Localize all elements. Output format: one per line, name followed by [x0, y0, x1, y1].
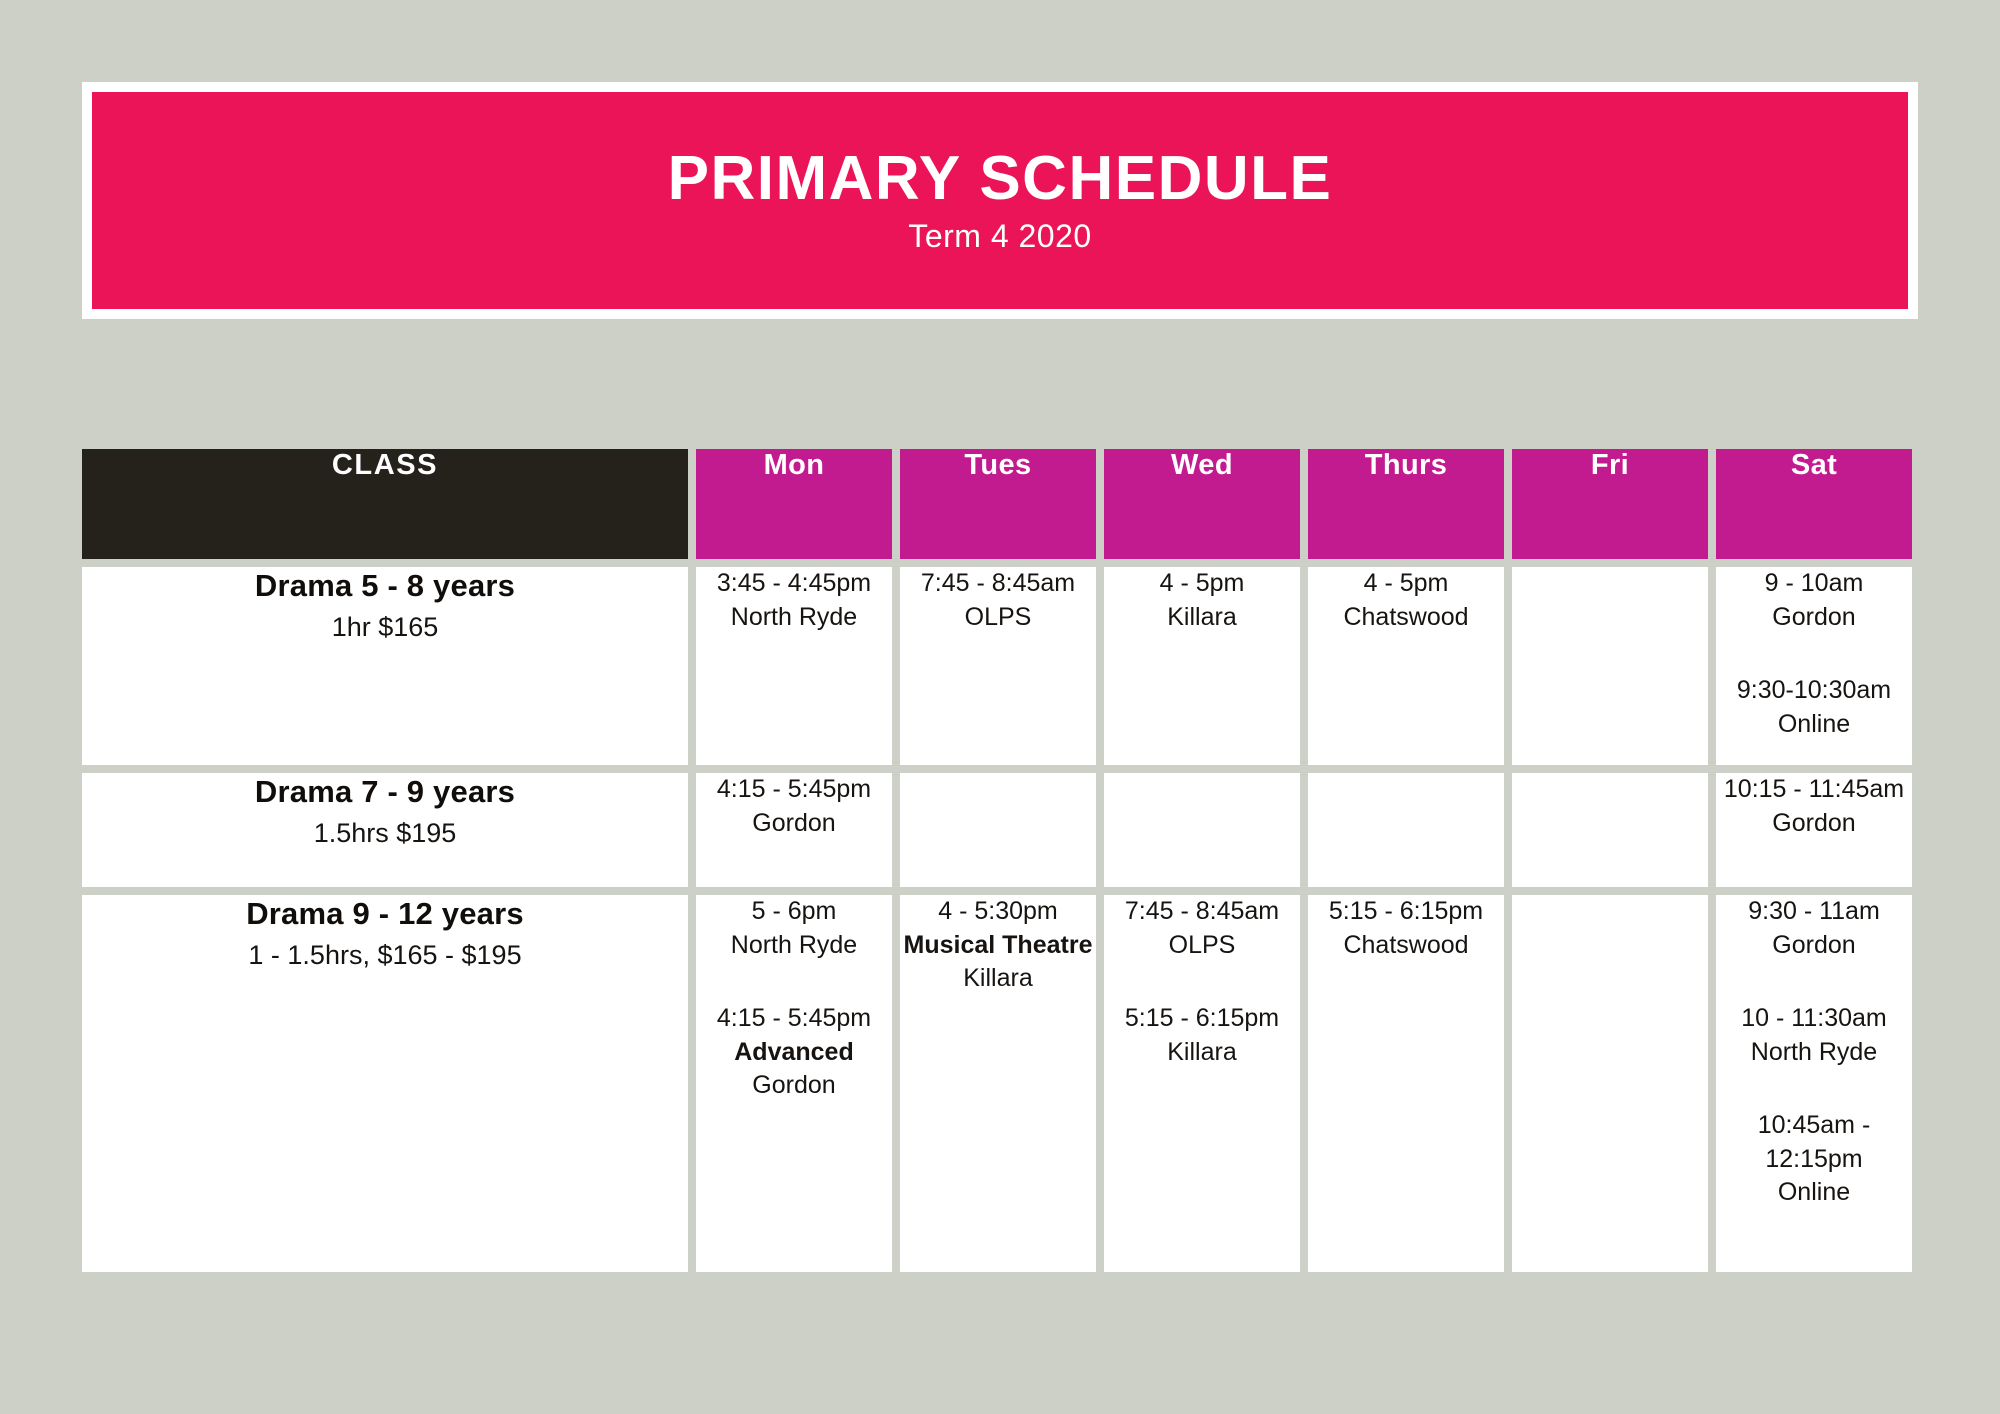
schedule-entry: 10 - 11:30amNorth Ryde	[1716, 1002, 1912, 1069]
column-header-wed: Wed	[1104, 449, 1300, 559]
entry-time: 4 - 5:30pm	[900, 895, 1096, 929]
schedule-table: CLASS Mon Tues Wed Thurs Fri Sat Drama 5…	[74, 441, 1920, 1280]
entry-time: 7:45 - 8:45am	[900, 567, 1096, 601]
table-row: Drama 7 - 9 years1.5hrs $1954:15 - 5:45p…	[82, 773, 1912, 887]
entry-time: 5 - 6pm	[696, 895, 892, 929]
entry-location: North Ryde	[1716, 1036, 1912, 1070]
table-header-row: CLASS Mon Tues Wed Thurs Fri Sat	[82, 449, 1912, 559]
entry-time: 7:45 - 8:45am	[1104, 895, 1300, 929]
class-cell: Drama 7 - 9 years1.5hrs $195	[82, 773, 688, 887]
entry-location: Killara	[1104, 601, 1300, 635]
entry-note: Musical Theatre	[900, 929, 1096, 963]
entry-location: OLPS	[900, 601, 1096, 635]
schedule-cell-mon: 4:15 - 5:45pmGordon	[696, 773, 892, 887]
entry-time: 5:15 - 6:15pm	[1308, 895, 1504, 929]
entry-location: Gordon	[696, 807, 892, 841]
schedule-entry: 7:45 - 8:45amOLPS	[1104, 895, 1300, 962]
entry-time: 4:15 - 5:45pm	[696, 773, 892, 807]
entry-time: 10:45am - 12:15pm	[1716, 1109, 1912, 1176]
schedule-table-head: CLASS Mon Tues Wed Thurs Fri Sat	[82, 449, 1912, 559]
column-header-class: CLASS	[82, 449, 688, 559]
class-name: Drama 5 - 8 years	[82, 567, 688, 604]
schedule-cell-sat: 9:30 - 11amGordon10 - 11:30amNorth Ryde1…	[1716, 895, 1912, 1272]
entry-time: 10 - 11:30am	[1716, 1002, 1912, 1036]
schedule-cell-mon: 5 - 6pmNorth Ryde4:15 - 5:45pmAdvancedGo…	[696, 895, 892, 1272]
schedule-table-body: Drama 5 - 8 years1hr $1653:45 - 4:45pmNo…	[82, 567, 1912, 1272]
column-header-mon: Mon	[696, 449, 892, 559]
class-cell: Drama 9 - 12 years1 - 1.5hrs, $165 - $19…	[82, 895, 688, 1272]
table-row: Drama 9 - 12 years1 - 1.5hrs, $165 - $19…	[82, 895, 1912, 1272]
entry-location: Chatswood	[1308, 601, 1504, 635]
schedule-entry: 4 - 5pmKillara	[1104, 567, 1300, 634]
entry-time: 3:45 - 4:45pm	[696, 567, 892, 601]
schedule-entry: 4 - 5pmChatswood	[1308, 567, 1504, 634]
schedule-entry: 4 - 5:30pmMusical TheatreKillara	[900, 895, 1096, 996]
schedule-entry: 3:45 - 4:45pmNorth Ryde	[696, 567, 892, 634]
column-header-fri: Fri	[1512, 449, 1708, 559]
entry-time: 5:15 - 6:15pm	[1104, 1002, 1300, 1036]
schedule-entry: 5:15 - 6:15pmKillara	[1104, 1002, 1300, 1069]
class-cell: Drama 5 - 8 years1hr $165	[82, 567, 688, 765]
schedule-cell-thurs	[1308, 773, 1504, 887]
schedule-cell-fri	[1512, 895, 1708, 1272]
schedule-entry: 10:15 - 11:45amGordon	[1716, 773, 1912, 840]
schedule-entry: 10:45am - 12:15pmOnline	[1716, 1109, 1912, 1210]
entry-time: 9:30 - 11am	[1716, 895, 1912, 929]
schedule-cell-mon: 3:45 - 4:45pmNorth Ryde	[696, 567, 892, 765]
schedule-cell-tues: 7:45 - 8:45amOLPS	[900, 567, 1096, 765]
column-header-tues: Tues	[900, 449, 1096, 559]
class-meta: 1.5hrs $195	[82, 816, 688, 851]
page-subtitle: Term 4 2020	[908, 218, 1091, 255]
entry-time: 9 - 10am	[1716, 567, 1912, 601]
class-name: Drama 7 - 9 years	[82, 773, 688, 810]
page-banner: PRIMARY SCHEDULE Term 4 2020	[82, 82, 1918, 319]
column-header-thurs: Thurs	[1308, 449, 1504, 559]
class-meta: 1 - 1.5hrs, $165 - $195	[82, 938, 688, 973]
entry-location: Killara	[900, 962, 1096, 996]
schedule-entry: 4:15 - 5:45pmGordon	[696, 773, 892, 840]
entry-time: 4 - 5pm	[1104, 567, 1300, 601]
schedule-cell-wed	[1104, 773, 1300, 887]
schedule-cell-thurs: 4 - 5pmChatswood	[1308, 567, 1504, 765]
entry-location: Gordon	[696, 1069, 892, 1103]
schedule-cell-wed: 7:45 - 8:45amOLPS5:15 - 6:15pmKillara	[1104, 895, 1300, 1272]
entry-note: Advanced	[696, 1036, 892, 1070]
schedule-entry: 4:15 - 5:45pmAdvancedGordon	[696, 1002, 892, 1103]
entry-time: 9:30-10:30am	[1716, 674, 1912, 708]
entry-time: 4 - 5pm	[1308, 567, 1504, 601]
class-meta: 1hr $165	[82, 610, 688, 645]
entry-location: Gordon	[1716, 601, 1912, 635]
schedule-cell-tues: 4 - 5:30pmMusical TheatreKillara	[900, 895, 1096, 1272]
schedule-entry: 5 - 6pmNorth Ryde	[696, 895, 892, 962]
schedule-page: PRIMARY SCHEDULE Term 4 2020 CLASS Mon T…	[0, 0, 2000, 1414]
entry-location: North Ryde	[696, 929, 892, 963]
entry-location: Online	[1716, 1176, 1912, 1210]
schedule-cell-sat: 9 - 10amGordon9:30-10:30amOnline	[1716, 567, 1912, 765]
schedule-entry: 5:15 - 6:15pmChatswood	[1308, 895, 1504, 962]
schedule-cell-wed: 4 - 5pmKillara	[1104, 567, 1300, 765]
entry-location: Chatswood	[1308, 929, 1504, 963]
page-title: PRIMARY SCHEDULE	[668, 146, 1333, 211]
entry-location: North Ryde	[696, 601, 892, 635]
schedule-cell-tues	[900, 773, 1096, 887]
entry-location: Gordon	[1716, 929, 1912, 963]
schedule-entry: 7:45 - 8:45amOLPS	[900, 567, 1096, 634]
entry-location: OLPS	[1104, 929, 1300, 963]
schedule-cell-thurs: 5:15 - 6:15pmChatswood	[1308, 895, 1504, 1272]
schedule-entry: 9:30 - 11amGordon	[1716, 895, 1912, 962]
class-name: Drama 9 - 12 years	[82, 895, 688, 932]
entry-time: 4:15 - 5:45pm	[696, 1002, 892, 1036]
entry-location: Gordon	[1716, 807, 1912, 841]
schedule-cell-fri	[1512, 567, 1708, 765]
entry-location: Online	[1716, 708, 1912, 742]
schedule-entry: 9 - 10amGordon	[1716, 567, 1912, 634]
column-header-sat: Sat	[1716, 449, 1912, 559]
table-row: Drama 5 - 8 years1hr $1653:45 - 4:45pmNo…	[82, 567, 1912, 765]
schedule-cell-sat: 10:15 - 11:45amGordon	[1716, 773, 1912, 887]
schedule-entry: 9:30-10:30amOnline	[1716, 674, 1912, 741]
entry-time: 10:15 - 11:45am	[1716, 773, 1912, 807]
entry-location: Killara	[1104, 1036, 1300, 1070]
schedule-cell-fri	[1512, 773, 1708, 887]
banner-inner: PRIMARY SCHEDULE Term 4 2020	[92, 92, 1908, 309]
